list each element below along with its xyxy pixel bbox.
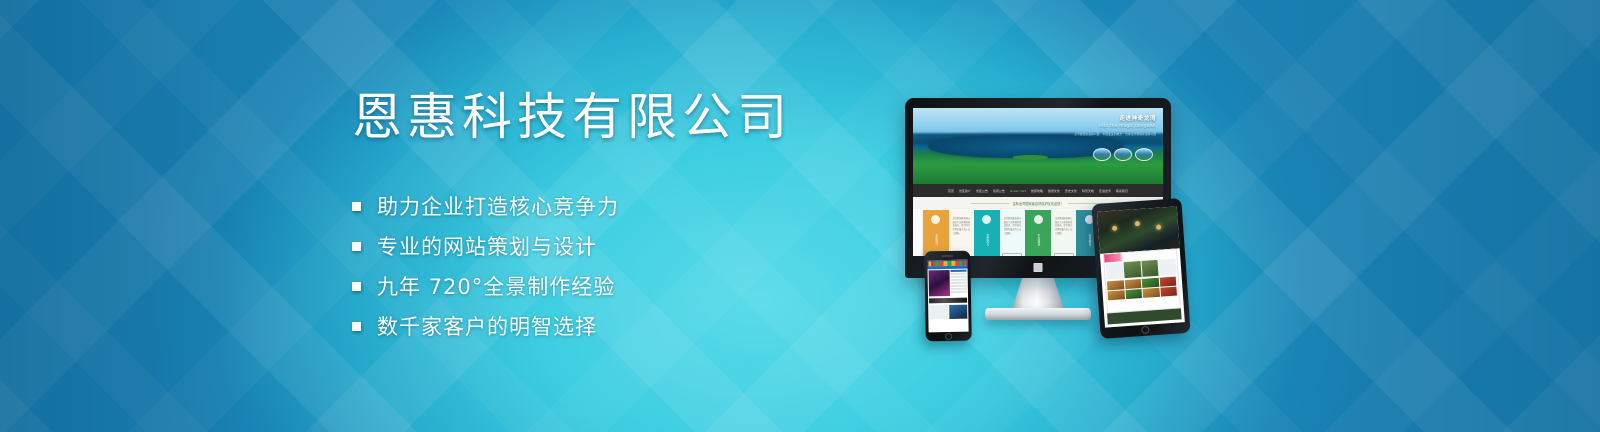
- square-bullet-icon: [352, 242, 361, 251]
- phone-card-image[interactable]: [949, 305, 968, 319]
- feature-card-paragraph: 龙湾群国家森林公园位于吉林省辉南县境内，是中国东北地区最大的火山口湖群。: [1053, 214, 1075, 239]
- phone-content-row: [928, 269, 968, 298]
- phone-speaker-icon: [941, 255, 953, 257]
- gallery-thumb[interactable]: [1124, 279, 1141, 289]
- device-mockup-cluster: 走进神奇龙湾 Into the magic Longwan 龙湾群国家森林公园 …: [900, 98, 1200, 348]
- tablet-device: [1091, 198, 1190, 339]
- site-hero-banner: 走进神奇龙湾 Into the magic Longwan 龙湾群国家森林公园 …: [913, 108, 1163, 184]
- bullet-label: 数千家客户的明智选择: [377, 311, 597, 341]
- phone-home-button-icon[interactable]: [945, 332, 952, 339]
- nav-item-science[interactable]: 科普天地: [1082, 189, 1094, 193]
- nav-item-travel-guide[interactable]: 旅游攻略: [1031, 189, 1043, 193]
- nav-item-about-longwan[interactable]: 走进龙湾: [1099, 189, 1111, 193]
- hero-banner: 恩惠科技有限公司 助力企业打造核心竞争力 专业的网站策划与设计 九年 720°全…: [0, 0, 1600, 432]
- site-hero-subtitle: Into the magic Longwan: [1099, 123, 1156, 128]
- gallery-thumb[interactable]: [1142, 288, 1159, 298]
- monitor-brand-logo-icon: [1034, 263, 1043, 272]
- monitor-stand-neck: [1011, 276, 1065, 312]
- feature-card-body: 龙湾群国家森林公园位于吉林省辉南县境内，是中国东北地区最大的火山口湖群。: [1000, 210, 1026, 256]
- feature-card-paragraph: 龙湾群国家森林公园位于吉林省辉南县境内，是中国东北地区最大的火山口湖群。: [1002, 214, 1024, 239]
- company-headline: 恩惠科技有限公司: [352, 92, 872, 142]
- site-hero-tagline: 龙湾群国家森林公园 · 中国最美的地方 · 吉林龙湾群国家森林公园: [1074, 132, 1156, 136]
- hero-thumbnail[interactable]: [1114, 148, 1132, 161]
- hero-thumbnail-row: [1093, 148, 1153, 161]
- square-bullet-icon: [352, 202, 361, 211]
- gallery-thumb[interactable]: [1160, 286, 1177, 296]
- tablet-column: [1106, 262, 1124, 279]
- card-badge-icon: [982, 215, 991, 224]
- feature-bullet-list: 助力企业打造核心竞争力 专业的网站策划与设计 九年 720°全景制作经验 数千家…: [352, 186, 872, 346]
- welcome-message: 吉林龙湾国家级自然保护区欢迎您！: [1013, 201, 1064, 206]
- feature-card-button[interactable]: [1054, 253, 1074, 256]
- phone-bezel: [924, 251, 972, 342]
- feature-card-body: 龙湾群国家森林公园位于吉林省辉南县境内，是中国东北地区最大的火山口湖群。: [1051, 210, 1077, 256]
- list-item: 专业的网站策划与设计: [352, 226, 872, 266]
- nav-item-home[interactable]: 首页: [948, 189, 954, 193]
- mobile-phone-device: [924, 251, 972, 342]
- feature-card[interactable]: 景区简介: [923, 210, 949, 256]
- tablet-home-button-icon[interactable]: [1141, 325, 1150, 334]
- nav-item-contact[interactable]: 联系我们: [1116, 189, 1128, 193]
- feature-card-paragraph: 龙湾群国家森林公园位于吉林省辉南县境内，是中国东北地区最大的火山口湖群。: [951, 214, 973, 239]
- tablet-food-gallery: [1106, 275, 1179, 301]
- banner-copy: 恩惠科技有限公司 助力企业打造核心竞争力 专业的网站策划与设计 九年 720°全…: [352, 92, 872, 346]
- site-nav-bar: 首页 景区简介 景区公告 新闻公告 Green Net 旅游攻略 旅游文化 历史…: [913, 184, 1163, 197]
- tablet-hero-photo: [1097, 206, 1180, 253]
- island-shape: [1013, 155, 1048, 160]
- phone-card[interactable]: [929, 305, 948, 319]
- feature-card-label: 生态旅游: [1036, 226, 1040, 254]
- square-bullet-icon: [352, 322, 361, 331]
- feature-card[interactable]: 生态旅游: [1025, 210, 1051, 256]
- tablet-column-image: [1123, 261, 1141, 278]
- list-item: 助力企业打造核心竞争力: [352, 186, 872, 226]
- tablet-bezel: [1091, 198, 1190, 339]
- hero-thumbnail[interactable]: [1093, 148, 1111, 161]
- tablet-column-image: [1141, 260, 1159, 277]
- gallery-thumb[interactable]: [1107, 290, 1124, 300]
- bullet-label: 九年 720°全景制作经验: [377, 271, 615, 301]
- tablet-site-content: [1103, 248, 1181, 313]
- feature-card-body: 龙湾群国家森林公园位于吉林省辉南县境内，是中国东北地区最大的火山口湖群。: [949, 210, 975, 256]
- feature-card-label: 景区风光: [985, 226, 989, 254]
- nav-item-news[interactable]: 新闻公告: [993, 189, 1005, 193]
- gallery-thumb[interactable]: [1159, 276, 1176, 286]
- list-item: 数千家客户的明智选择: [352, 306, 872, 346]
- feature-card-label: 景区简介: [934, 226, 938, 254]
- nav-item-history[interactable]: 历史文化: [1065, 189, 1077, 193]
- nav-item-scenic-intro[interactable]: 景区简介: [959, 189, 971, 193]
- hero-thumbnail[interactable]: [1135, 148, 1153, 161]
- list-item: 九年 720°全景制作经验: [352, 266, 872, 306]
- phone-banner-strip: [929, 298, 967, 304]
- tablet-column: [1159, 258, 1177, 275]
- gallery-thumb[interactable]: [1107, 280, 1124, 290]
- bullet-label: 助力企业打造核心竞争力: [377, 191, 619, 221]
- card-badge-icon: [931, 215, 940, 224]
- tablet-screen: [1097, 206, 1185, 327]
- nav-item-notices[interactable]: 景区公告: [976, 189, 988, 193]
- nav-item-green-net[interactable]: Green Net: [1010, 189, 1026, 193]
- phone-feature-photo[interactable]: [929, 270, 950, 296]
- nav-item-travel-culture[interactable]: 旅游文化: [1048, 189, 1060, 193]
- bullet-label: 专业的网站策划与设计: [377, 231, 597, 261]
- feature-card-label: 科普教育: [1087, 226, 1091, 254]
- phone-text-lines: [950, 270, 967, 296]
- gallery-thumb[interactable]: [1142, 278, 1159, 288]
- divider: [971, 203, 1009, 204]
- gallery-thumb[interactable]: [1125, 289, 1142, 299]
- square-bullet-icon: [352, 282, 361, 291]
- feature-card[interactable]: 景区风光: [974, 210, 1000, 256]
- feature-card-button[interactable]: [1002, 253, 1022, 256]
- phone-content-row: [928, 304, 968, 321]
- phone-screen: [927, 260, 968, 333]
- monitor-stand-base: [985, 308, 1091, 320]
- card-badge-icon: [1034, 215, 1043, 224]
- site-hero-title: 走进神奇龙湾: [1119, 114, 1156, 122]
